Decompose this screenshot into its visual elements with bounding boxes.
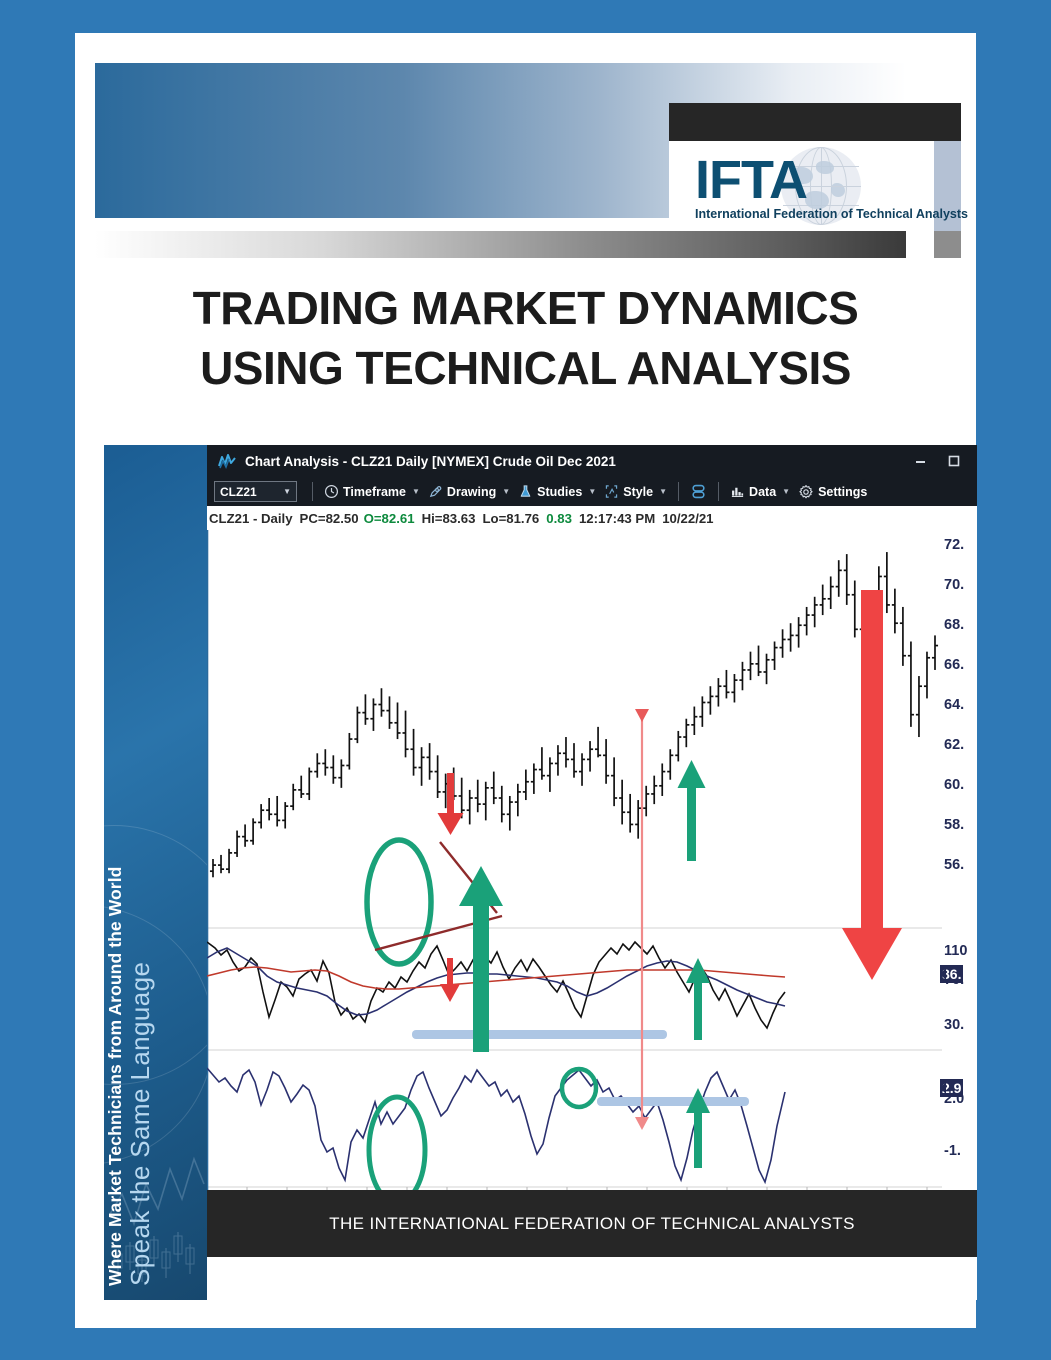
- toolbar-item-settings[interactable]: Settings: [794, 484, 871, 500]
- style-bracket-icon: [604, 484, 619, 499]
- sell-arrow-oscillator: [440, 958, 460, 1002]
- chart-canvas[interactable]: [207, 530, 942, 1257]
- logo-tagline: International Federation of Technical An…: [695, 207, 968, 221]
- toolbar-divider: [678, 482, 679, 501]
- signal-vertical-line-tophead: [635, 709, 649, 722]
- buy-arrow-price: [678, 760, 706, 861]
- page-title: TRADING MARKET DYNAMICS USING TECHNICAL …: [75, 278, 976, 398]
- buy-arrow-large: [459, 866, 503, 1052]
- price-axis[interactable]: 72. 70. 68. 66. 64. 62. 60. 58. 56. 110 …: [942, 530, 977, 1257]
- y-tick-110: 110: [944, 943, 967, 959]
- chevron-down-icon: ▼: [588, 487, 596, 496]
- title-line-1: TRADING MARKET DYNAMICS: [75, 278, 976, 338]
- symbol-select[interactable]: CLZ21 ▼: [214, 481, 297, 502]
- momentum-value-badge: 2.9: [940, 1079, 963, 1097]
- chevron-down-icon: ▼: [782, 487, 790, 496]
- clock-icon: [324, 484, 339, 499]
- minimize-button[interactable]: [914, 455, 927, 468]
- header-gray-gradient-bar: [95, 231, 906, 258]
- y-tick-72: 72.: [944, 537, 964, 553]
- window-title: Chart Analysis - CLZ21 Daily [NYMEX] Cru…: [245, 454, 616, 469]
- title-line-2: USING TECHNICAL ANALYSIS: [75, 338, 976, 398]
- cover-page: IFTA International Federation of Technic…: [75, 33, 976, 1328]
- quote-time: 12:17:43 PM: [579, 511, 655, 526]
- toolbar-item-drawing[interactable]: Drawing ▼: [424, 484, 514, 499]
- toolbar-divider: [312, 482, 313, 501]
- divergence-ellipse-small: [562, 1069, 596, 1107]
- toolbar-label-timeframe: Timeframe: [343, 485, 406, 499]
- chevron-down-icon: ▼: [502, 487, 510, 496]
- price-bars: [210, 552, 938, 877]
- y-tick-minus1: -1.: [944, 1143, 961, 1159]
- split-panes-icon: [690, 483, 707, 500]
- toolbar-item-style[interactable]: Style ▼: [600, 484, 671, 499]
- y-tick-64: 64.: [944, 697, 964, 713]
- toolbar-item-timeframe[interactable]: Timeframe ▼: [320, 484, 424, 499]
- toolbar-divider: [718, 482, 719, 501]
- quote-date: 10/22/21: [662, 511, 713, 526]
- symbol-select-value: CLZ21: [220, 485, 257, 499]
- toolbar-item-data[interactable]: Data ▼: [726, 484, 794, 499]
- footer-text: THE INTERNATIONAL FEDERATION OF TECHNICA…: [329, 1214, 855, 1234]
- momentum-highlight-band: [597, 1097, 749, 1106]
- chevron-down-icon: ▼: [412, 487, 420, 496]
- consolidation-ellipse: [367, 840, 431, 964]
- flask-icon: [518, 484, 533, 499]
- y-tick-56: 56.: [944, 857, 964, 873]
- quote-change: 0.83: [546, 511, 572, 526]
- chart-squiggle-icon: [217, 452, 237, 470]
- sidebar-tagline-line-1: Where Market Technicians from Around the…: [105, 867, 126, 1286]
- toolbar-item-split-panes[interactable]: [686, 483, 711, 500]
- quote-prev-close: PC=82.50: [300, 511, 359, 526]
- quote-low: Lo=81.76: [482, 511, 539, 526]
- header-gray-accent-block: [934, 231, 961, 258]
- gear-icon: [798, 484, 814, 500]
- y-tick-70: 70.: [944, 577, 964, 593]
- chevron-down-icon: ▼: [283, 487, 291, 496]
- y-tick-30: 30.: [944, 1017, 964, 1033]
- y-tick-62: 62.: [944, 737, 964, 753]
- logo-acronym: IFTA: [695, 149, 807, 211]
- chart-toolbar: CLZ21 ▼ Timeframe ▼ Drawing ▼: [207, 477, 977, 506]
- pencil-icon: [428, 484, 443, 499]
- toolbar-item-studies[interactable]: Studies ▼: [514, 484, 600, 499]
- maximize-button[interactable]: [947, 454, 961, 468]
- toolbar-label-style: Style: [623, 485, 653, 499]
- chevron-down-icon: ▼: [659, 487, 667, 496]
- window-title-bar: Chart Analysis - CLZ21 Daily [NYMEX] Cru…: [207, 445, 977, 477]
- quote-open-label: O=: [364, 511, 382, 526]
- y-tick-68: 68.: [944, 617, 964, 633]
- bar-chart-icon: [730, 484, 745, 499]
- toolbar-label-settings: Settings: [818, 485, 867, 499]
- footer-banner: THE INTERNATIONAL FEDERATION OF TECHNICA…: [207, 1190, 977, 1257]
- quote-high: Hi=83.63: [422, 511, 476, 526]
- quote-open-value: 82.61: [382, 511, 415, 526]
- quote-symbol: CLZ21 - Daily: [209, 511, 293, 526]
- toolbar-label-data: Data: [749, 485, 776, 499]
- quote-info-line: CLZ21 - Daily PC=82.50 O=82.61 Hi=83.63 …: [207, 506, 977, 530]
- sell-arrow-small: [438, 773, 464, 835]
- header-black-bar: [669, 103, 961, 141]
- y-tick-66: 66.: [944, 657, 964, 673]
- sidebar-tagline-line-2: Speak the Same Language: [125, 962, 156, 1286]
- oscillator-value-badge: 86.: [940, 965, 963, 983]
- chart-plot-area[interactable]: 72. 70. 68. 66. 64. 62. 60. 58. 56. 110 …: [207, 530, 977, 1257]
- sell-arrow-large: [842, 590, 902, 980]
- toolbar-label-studies: Studies: [537, 485, 582, 499]
- chart-analysis-window: Chart Analysis - CLZ21 Daily [NYMEX] Cru…: [207, 445, 977, 1300]
- y-tick-58: 58.: [944, 817, 964, 833]
- sidebar-tagline-strip: Where Market Technicians from Around the…: [104, 445, 207, 1300]
- ifta-logo: IFTA International Federation of Technic…: [695, 145, 925, 231]
- signal-vertical-line-arrowhead: [635, 1117, 649, 1130]
- toolbar-label-drawing: Drawing: [447, 485, 496, 499]
- header-band: IFTA International Federation of Technic…: [95, 63, 961, 259]
- oscillator-highlight-band: [412, 1030, 667, 1039]
- y-tick-60: 60.: [944, 777, 964, 793]
